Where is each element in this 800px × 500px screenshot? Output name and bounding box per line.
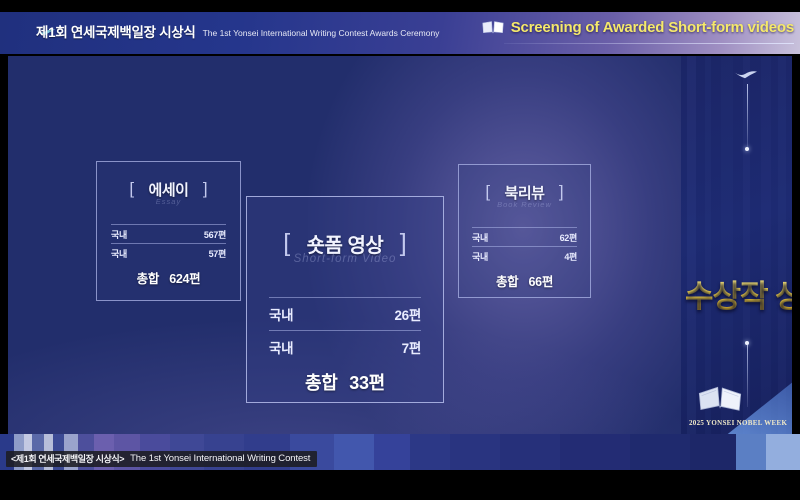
total-value: 33편 — [349, 373, 385, 393]
total-value: 624편 — [169, 272, 200, 286]
bird-swoosh-icon — [731, 68, 759, 80]
card-total: 총합 66편 — [459, 271, 590, 290]
total-label: 총합 — [137, 272, 159, 286]
total-value: 66편 — [529, 275, 554, 289]
poster-dot-top — [745, 147, 749, 151]
card-subtitle: Book Review — [459, 200, 590, 209]
row-value: 26편 — [394, 304, 421, 324]
bracket-open: [ — [485, 182, 490, 202]
card-rows: 국내 26편 국내 7편 — [247, 297, 443, 363]
row-value: 57편 — [209, 247, 226, 260]
card-rows: 국내 62편 국내 4편 — [459, 227, 590, 265]
presentation-header-bar: 제1회 연세국제백일장 시상식 The 1st Yonsei Internati… — [0, 12, 800, 54]
caption-korean: <제1회 연세국제백일장 시상식> — [11, 452, 124, 465]
letterbox-left — [0, 54, 8, 434]
row-label: 국내 — [472, 250, 488, 263]
poster-line-bottom — [747, 345, 748, 407]
poster-line-top — [747, 84, 748, 148]
card-subtitle: Short-form Video — [247, 253, 443, 265]
video-player-frame: 제1회 연세국제백일장 시상식 The 1st Yonsei Internati… — [0, 0, 800, 500]
open-book-icon — [482, 20, 504, 35]
card-header: [ 에세이 ] Essay — [97, 162, 240, 200]
presentation-slide: [ 에세이 ] Essay 국내 567편 국내 57편 총합 624편 — [8, 56, 792, 434]
row-label: 국내 — [269, 337, 293, 357]
header-title-group: 제1회 연세국제백일장 시상식 The 1st Yonsei Internati… — [36, 21, 439, 41]
header-korean-title: 제1회 연세국제백일장 시상식 — [36, 21, 196, 41]
stat-card-essay: [ 에세이 ] Essay 국내 567편 국내 57편 총합 624편 — [96, 161, 241, 301]
bracket-close: ] — [203, 179, 208, 199]
header-english-title: The 1st Yonsei International Writing Con… — [203, 28, 440, 38]
letterbox-top — [0, 0, 800, 12]
stat-row: 국내 7편 — [269, 330, 421, 363]
card-rows: 국내 567편 국내 57편 — [97, 224, 240, 262]
row-label: 국내 — [472, 231, 488, 244]
card-header: [ 북리뷰 ] Book Review — [459, 165, 590, 203]
poster-panel: 수상작 상 2025 YONSEI NOBEL WEEK — [681, 56, 792, 434]
stat-row: 국내 57편 — [111, 243, 226, 262]
row-label: 국내 — [111, 247, 127, 260]
total-label: 총합 — [496, 275, 518, 289]
screening-banner: Screening of Awarded Short-form videos — [482, 19, 794, 36]
poster-footer-text: 2025 YONSEI NOBEL WEEK — [689, 419, 787, 427]
poster-title: 수상작 상 — [685, 271, 792, 316]
bracket-close: ] — [559, 182, 564, 202]
bracket-open: [ — [129, 179, 134, 199]
open-book-illustration — [697, 384, 743, 412]
row-value: 62편 — [560, 231, 577, 244]
caption-english: The 1st Yonsei International Writing Con… — [130, 453, 310, 464]
stat-row: 국내 4편 — [472, 246, 577, 265]
card-subtitle: Essay — [97, 197, 240, 206]
subtitle-caption: <제1회 연세국제백일장 시상식> The 1st Yonsei Interna… — [6, 451, 317, 467]
row-value: 567편 — [204, 228, 226, 241]
total-label: 총합 — [305, 373, 338, 393]
stat-row: 국내 62편 — [472, 227, 577, 246]
row-label: 국내 — [111, 228, 127, 241]
row-value: 7편 — [402, 337, 421, 357]
card-header: [ 숏폼 영상 ] Short-form Video — [247, 197, 443, 259]
header-underline — [504, 43, 794, 44]
stat-card-book-review: [ 북리뷰 ] Book Review 국내 62편 국내 4편 총합 66편 — [458, 164, 591, 298]
row-label: 국내 — [269, 304, 293, 324]
screening-label: Screening of Awarded Short-form videos — [511, 19, 794, 36]
stat-row: 국내 567편 — [111, 224, 226, 243]
card-total: 총합 33편 — [247, 369, 443, 395]
card-total: 총합 624편 — [97, 268, 240, 287]
letterbox-bottom — [0, 470, 800, 500]
stat-card-short-form: [ 숏폼 영상 ] Short-form Video 국내 26편 국내 7편 … — [246, 196, 444, 403]
poster-stripes — [681, 56, 792, 434]
stat-row: 국내 26편 — [269, 297, 421, 330]
row-value: 4편 — [564, 250, 577, 263]
letterbox-right — [792, 54, 800, 434]
